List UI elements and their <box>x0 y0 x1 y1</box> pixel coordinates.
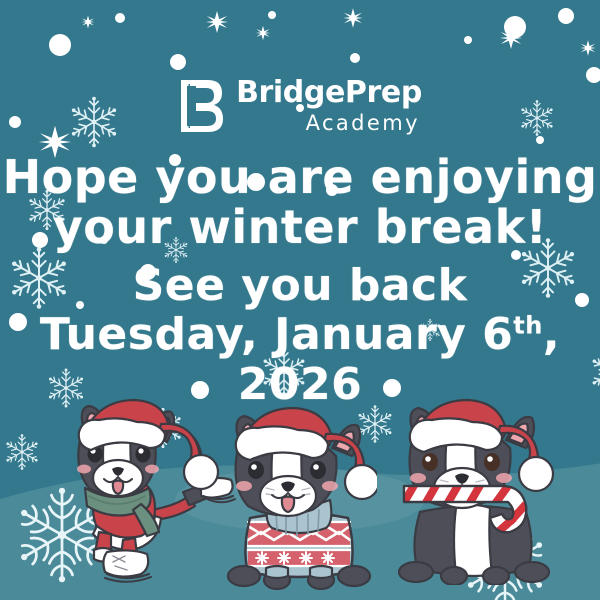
headline-return-date: See you back Tuesday, January 6th, 2026 <box>0 262 600 410</box>
logo-line2: Academy <box>306 113 422 134</box>
dog-illustrations <box>0 390 600 600</box>
headline-primary: Hope you are enjoying your winter break! <box>0 152 600 252</box>
headline1-line1: Hope you are enjoying <box>0 152 600 202</box>
headline1-line2: your winter break! <box>0 202 600 252</box>
winter-break-announcement-poster: BridgePrep Academy Hope you are enjoying… <box>0 0 600 600</box>
bridgeprep-logo: BridgePrep Academy <box>0 78 600 134</box>
candy-cane-dog-illustration <box>398 390 558 585</box>
sweater-dog-illustration <box>222 400 377 590</box>
headline2-line1: See you back <box>0 262 600 310</box>
return-date-text: Tuesday, January 6 <box>40 309 513 360</box>
bridgeprep-b-monogram-icon <box>178 78 224 134</box>
ordinal-suffix: th <box>513 311 543 339</box>
logo-wordmark: BridgePrep Academy <box>236 78 422 134</box>
ice-skating-dog-illustration <box>55 392 240 587</box>
logo-line1: BridgePrep <box>236 78 422 108</box>
